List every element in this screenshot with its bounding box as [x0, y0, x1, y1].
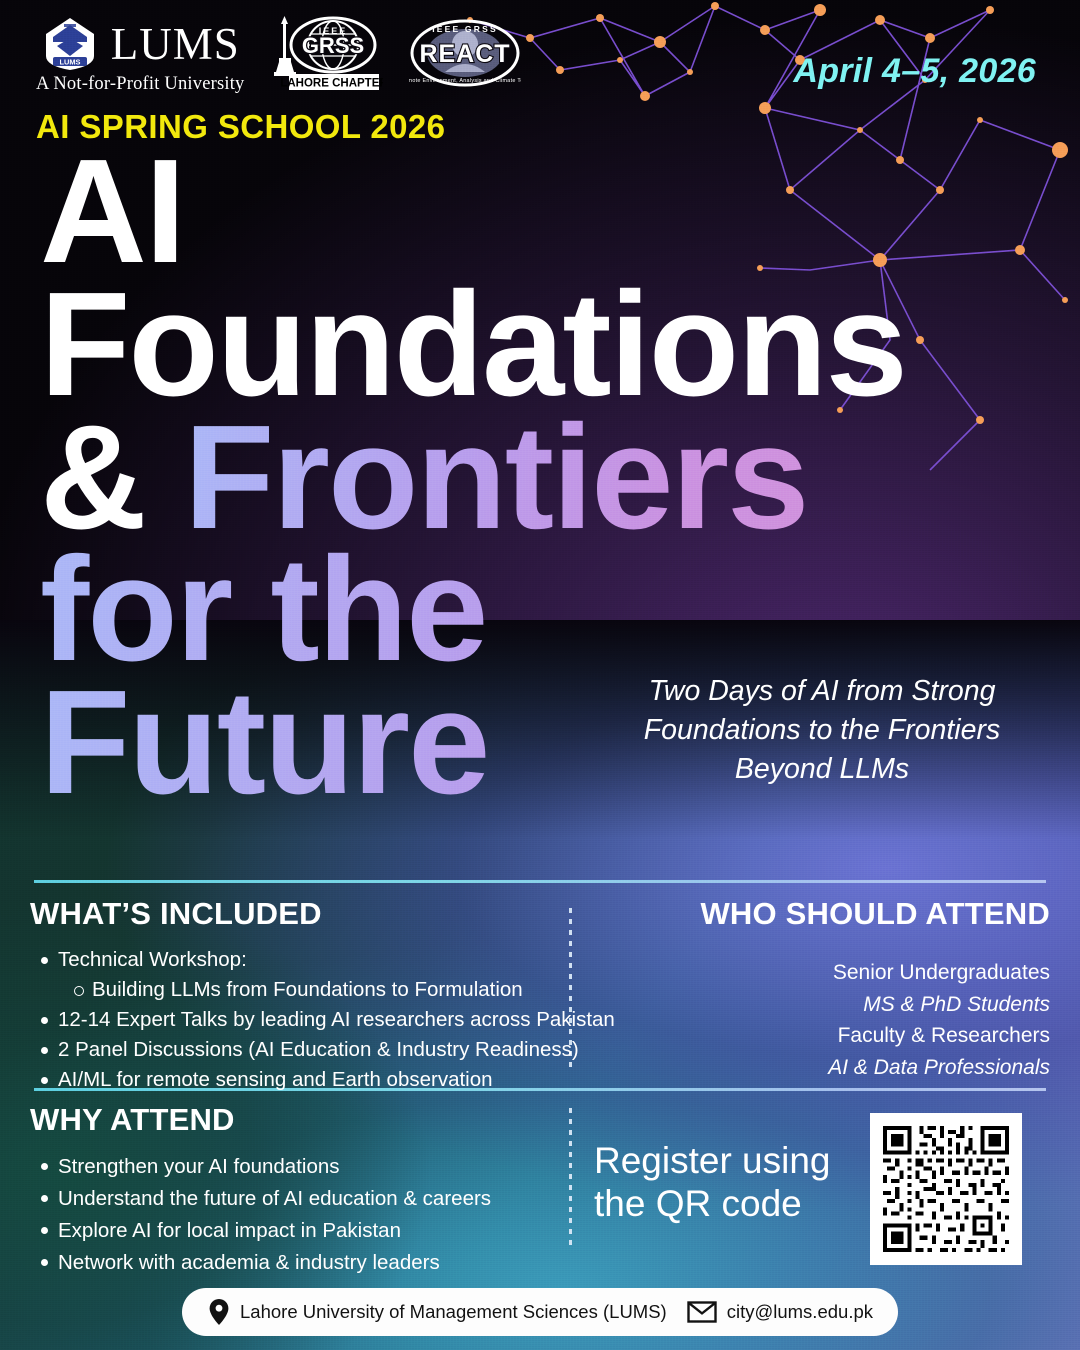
list-item: 2 Panel Discussions (AI Education & Indu…	[30, 1035, 570, 1065]
section-whats-included: WHAT’S INCLUDED Technical Workshop: Buil…	[30, 898, 570, 1095]
lums-crest-label: LUMS	[59, 57, 80, 66]
footer-email-text: city@lums.edu.pk	[727, 1301, 873, 1323]
register-call-to-action: Register using the QR code	[594, 1140, 831, 1226]
why-attend-heading: WHY ATTEND	[30, 1104, 570, 1135]
list-item: Network with academia & industry leaders	[30, 1247, 570, 1279]
react-ieee-grss-label: IEEE GRSS	[432, 24, 498, 34]
title-line-1: AI	[40, 148, 1040, 277]
envelope-icon	[687, 1300, 717, 1324]
list-item: 12-14 Expert Talks by leading AI researc…	[30, 1005, 570, 1035]
map-pin-icon	[208, 1298, 230, 1326]
section-who-should-attend: WHO SHOULD ATTEND Senior Undergraduates …	[600, 898, 1050, 1083]
register-line-1: Register using	[594, 1140, 831, 1183]
list-item: Senior Undergraduates	[600, 957, 1050, 989]
footer-venue-text: Lahore University of Management Sciences…	[240, 1301, 667, 1323]
who-should-attend-list: Senior Undergraduates MS & PhD Students …	[600, 957, 1050, 1083]
list-item: Faculty & Researchers	[600, 1020, 1050, 1052]
list-item: Technical Workshop:	[30, 945, 570, 975]
lums-tagline: A Not-for-Profit University	[36, 74, 245, 95]
footer-contact-bar: Lahore University of Management Sciences…	[182, 1288, 898, 1336]
register-line-2: the QR code	[594, 1183, 831, 1226]
list-item: MS & PhD Students	[600, 989, 1050, 1021]
list-item: Explore AI for local impact in Pakistan	[30, 1215, 570, 1247]
whats-included-heading: WHAT’S INCLUDED	[30, 898, 570, 929]
lums-wordmark: LUMS	[111, 22, 240, 67]
title-line-3: & Frontiers	[40, 414, 1040, 543]
registration-qr-code[interactable]	[870, 1113, 1022, 1265]
whats-included-list: Technical Workshop: Building LLMs from F…	[30, 945, 570, 1095]
list-item: AI/ML for remote sensing and Earth obser…	[30, 1065, 570, 1095]
react-subtitle-label: Remote Environment, Analysis and Climate…	[409, 78, 521, 84]
footer-venue: Lahore University of Management Sciences…	[208, 1298, 667, 1326]
qr-code-icon	[879, 1122, 1013, 1256]
grss-chapter-label: LAHORE CHAPTER	[280, 78, 383, 90]
list-item: Strengthen your AI foundations	[30, 1151, 570, 1183]
event-date: April 4–5, 2026	[793, 52, 1036, 91]
lums-logo: LUMS LUMS A Not-for-Profit University	[36, 16, 245, 95]
list-item: Building LLMs from Foundations to Formul…	[30, 975, 570, 1005]
list-item: AI & Data Professionals	[600, 1052, 1050, 1084]
title-line-2: Foundations	[40, 281, 1040, 410]
title-line-4: for the	[40, 546, 1040, 675]
lums-crest-icon: LUMS	[41, 16, 99, 72]
ieee-grss-lahore-chapter-logo: IEEE GRSS LAHORE CHAPTER	[271, 14, 383, 97]
list-item: Understand the future of AI education & …	[30, 1183, 570, 1215]
poster-root: LUMS LUMS A Not-for-Profit University	[0, 0, 1080, 1350]
logo-row: LUMS LUMS A Not-for-Profit University	[36, 14, 521, 97]
event-tagline: Two Days of AI from Strong Foundations t…	[612, 672, 1032, 788]
divider-top	[34, 880, 1046, 883]
why-attend-list: Strengthen your AI foundations Understan…	[30, 1151, 570, 1279]
react-main-label: REACT	[419, 40, 510, 68]
footer-email[interactable]: city@lums.edu.pk	[687, 1300, 873, 1324]
section-why-attend: WHY ATTEND Strengthen your AI foundation…	[30, 1104, 570, 1279]
ieee-grss-react-logo: IEEE GRSS REACT Remote Environment, Anal…	[409, 14, 521, 97]
who-should-attend-heading: WHO SHOULD ATTEND	[600, 898, 1050, 929]
grss-main-label: GRSS	[301, 33, 363, 58]
